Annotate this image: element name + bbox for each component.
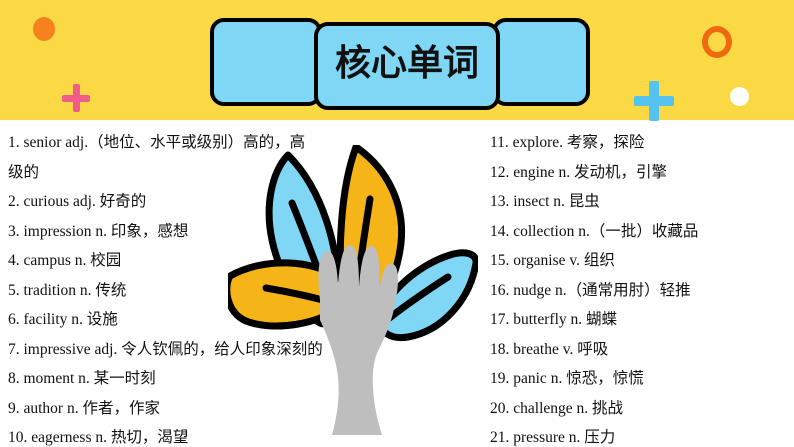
word-line: 9. author n. 作者，作家 bbox=[8, 394, 348, 424]
header-banner: 核心单词 bbox=[0, 0, 794, 120]
word-line: 11. explore. 考察，探险 bbox=[490, 128, 790, 158]
word-line: 21. pressure n. 压力 bbox=[490, 423, 790, 447]
blue-plus-icon bbox=[634, 81, 674, 121]
word-line: 15. organise v. 组织 bbox=[490, 246, 790, 276]
title-box-left bbox=[210, 18, 322, 106]
word-line: 16. nudge n.（通常用肘）轻推 bbox=[490, 276, 790, 306]
word-line: 13. insect n. 昆虫 bbox=[490, 187, 790, 217]
word-line: 12. engine n. 发动机，引擎 bbox=[490, 158, 790, 188]
word-line: 1. senior adj.（地位、水平或级别）高的，高 bbox=[8, 128, 348, 158]
title-box-group: 核心单词 bbox=[210, 18, 590, 108]
word-line: 17. butterfly n. 蝴蝶 bbox=[490, 305, 790, 335]
word-list-left: 1. senior adj.（地位、水平或级别）高的，高 级的 2. curio… bbox=[8, 128, 348, 447]
title-box-right bbox=[492, 18, 590, 106]
word-line: 级的 bbox=[8, 158, 348, 188]
orange-ring-icon bbox=[702, 26, 732, 58]
word-line: 14. collection n.（一批）收藏品 bbox=[490, 217, 790, 247]
word-line: 8. moment n. 某一时刻 bbox=[8, 364, 348, 394]
white-dot-icon bbox=[730, 87, 749, 106]
pink-plus-icon bbox=[62, 84, 90, 112]
word-line: 19. panic n. 惊恐，惊慌 bbox=[490, 364, 790, 394]
orange-dot-icon bbox=[33, 17, 55, 41]
page-title: 核心单词 bbox=[314, 42, 500, 86]
leaf-blue-right bbox=[380, 253, 476, 338]
leaf-amber-upper-right bbox=[340, 147, 401, 326]
word-line: 3. impression n. 印象，感想 bbox=[8, 217, 348, 247]
word-line: 4. campus n. 校园 bbox=[8, 246, 348, 276]
word-line: 10. eagerness n. 热切，渴望 bbox=[8, 423, 348, 447]
word-line: 20. challenge n. 挑战 bbox=[490, 394, 790, 424]
word-line: 2. curious adj. 好奇的 bbox=[8, 187, 348, 217]
slide-canvas: 核心单词 bbox=[0, 0, 794, 447]
word-list-right: 11. explore. 考察，探险 12. engine n. 发动机，引擎 … bbox=[490, 128, 790, 447]
word-line: 6. facility n. 设施 bbox=[8, 305, 348, 335]
word-line: 18. breathe v. 呼吸 bbox=[490, 335, 790, 365]
word-line: 5. tradition n. 传统 bbox=[8, 276, 348, 306]
word-line: 7. impressive adj. 令人钦佩的，给人印象深刻的 bbox=[8, 335, 348, 365]
